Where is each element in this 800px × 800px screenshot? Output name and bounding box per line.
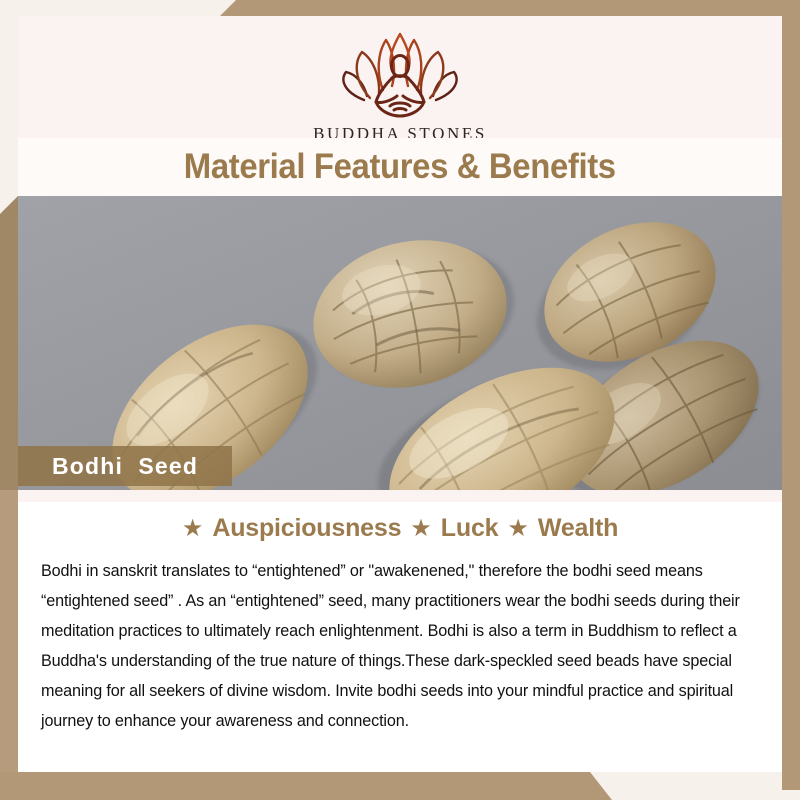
title-strip: Material Features & Benefits [18, 138, 782, 196]
poster: BUDDHA STONES Material Features & Benefi… [0, 0, 800, 800]
star-icon: ★ [410, 517, 432, 541]
bottom-decor-band [0, 772, 800, 800]
seed-caption-bar: Bodhi Seed [18, 446, 232, 486]
lotus-meditation-icon [334, 28, 466, 120]
star-icon: ★ [182, 517, 204, 541]
benefit-luck: Luck [441, 514, 499, 543]
left-decor-stripe-lower [0, 490, 18, 780]
star-icon: ★ [507, 517, 529, 541]
panel-top-divider [18, 490, 782, 502]
benefits-headline: ★ Auspiciousness ★ Luck ★ Wealth [18, 514, 782, 543]
description-text: Bodhi in sanskrit translates to “entight… [41, 556, 763, 736]
benefit-auspiciousness: Auspiciousness [212, 514, 401, 543]
benefit-wealth: Wealth [538, 514, 618, 543]
top-decor-band [0, 0, 800, 16]
body-panel: ★ Auspiciousness ★ Luck ★ Wealth Bodhi i… [18, 490, 782, 772]
page-title: Material Features & Benefits [184, 147, 616, 187]
brand-logo: BUDDHA STONES [18, 28, 782, 144]
seed-caption-text: Bodhi Seed [52, 453, 198, 480]
right-decor-stripe [782, 0, 800, 790]
